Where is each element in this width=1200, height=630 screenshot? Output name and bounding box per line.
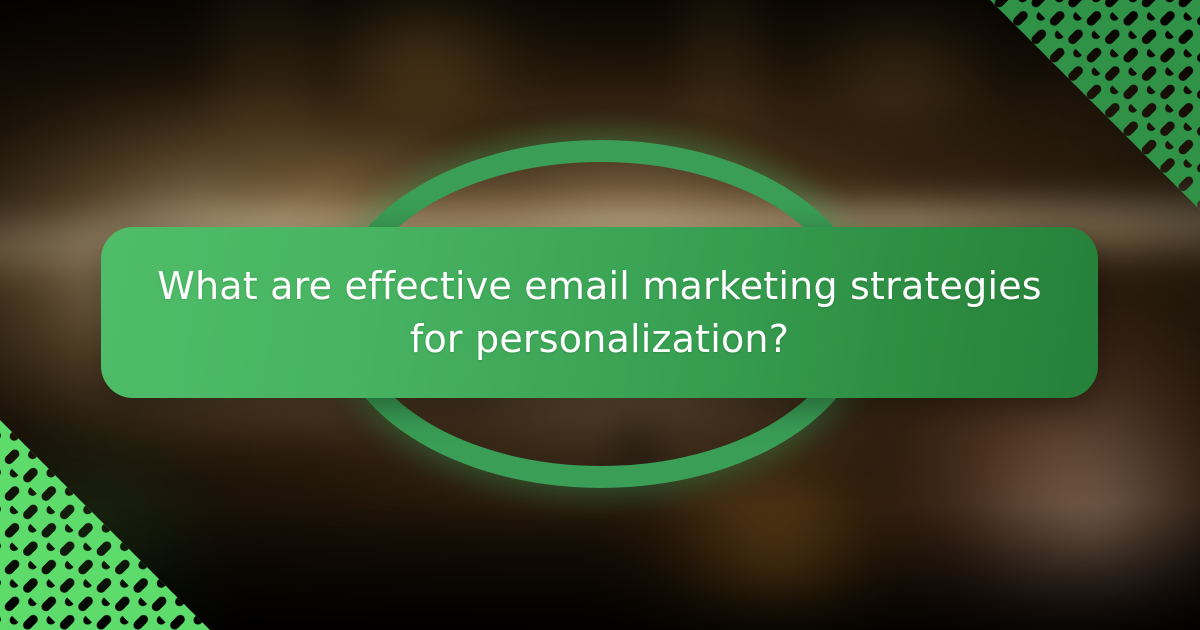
question-line-1: What are effective email marketing strat…	[157, 260, 1042, 312]
question-line-2: for personalization?	[157, 313, 1042, 365]
og-card-canvas: What are effective email marketing strat…	[0, 0, 1200, 630]
question-text: What are effective email marketing strat…	[103, 260, 1096, 365]
question-card: What are effective email marketing strat…	[101, 227, 1098, 398]
